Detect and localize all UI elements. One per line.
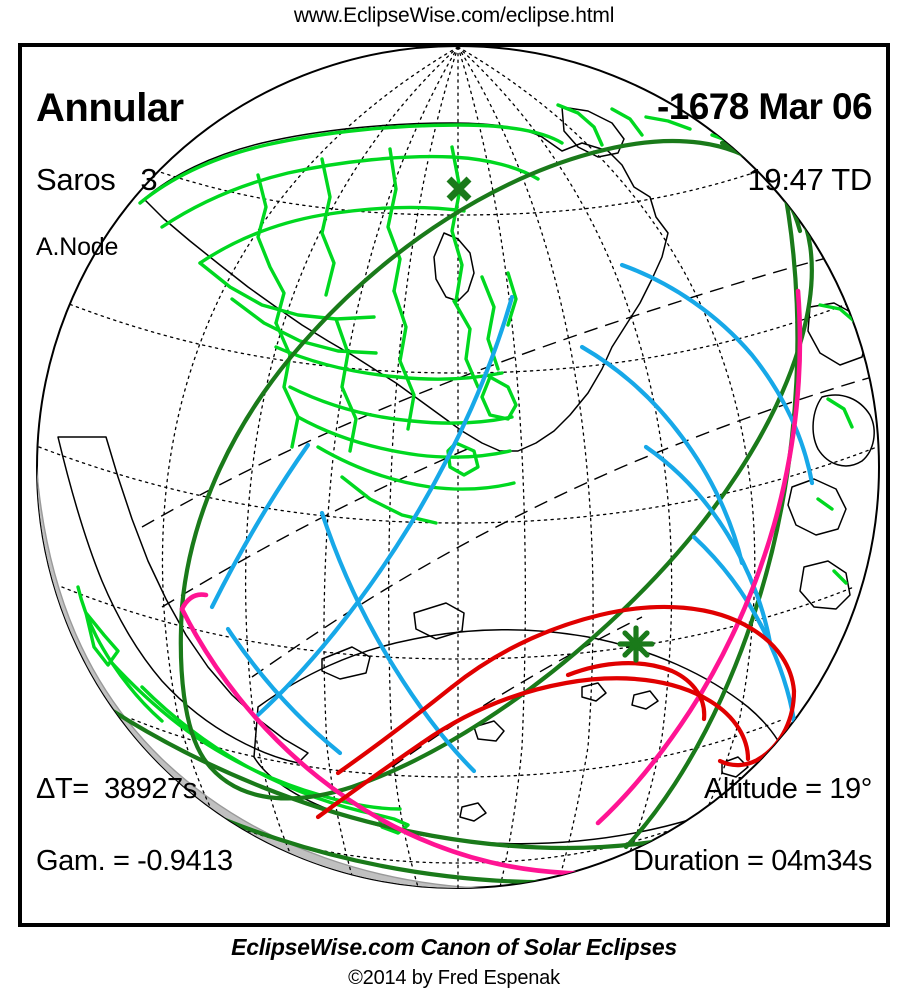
saros-series-label: Saros 3 [36, 161, 184, 200]
node-label: A.Node [36, 232, 184, 262]
duration-label: Duration = 04m34s [633, 841, 872, 881]
eclipse-map-page: www.EclipseWise.com/eclipse.html [0, 0, 908, 1004]
gamma-label: Gam. = -0.9413 [36, 841, 233, 881]
delta-t-label: ΔT= 38927s [36, 769, 233, 809]
eclipse-type-label: Annular [36, 87, 184, 129]
altitude-label: Altitude = 19° [633, 769, 872, 809]
eclipse-summary-top-left: Annular Saros 3 A.Node [36, 55, 184, 294]
eclipse-date-label: -1678 Mar 06 [657, 87, 872, 128]
copyright-credit: ©2014 by Fred Espenak [0, 967, 908, 990]
source-url: www.EclipseWise.com/eclipse.html [0, 4, 908, 28]
eclipse-time-label: 19:47 TD [657, 160, 872, 200]
eclipse-params-bottom-left: ΔT= 38927s Gam. = -0.9413 [36, 737, 233, 913]
eclipse-datetime-top-right: -1678 Mar 06 19:47 TD [657, 55, 872, 232]
eclipse-map-panel: Annular Saros 3 A.Node -1678 Mar 06 19:4… [18, 43, 890, 927]
eclipse-params-bottom-right: Altitude = 19° Duration = 04m34s [633, 737, 872, 913]
publication-title: EclipseWise.com Canon of Solar Eclipses [0, 934, 908, 961]
greatest-eclipse-point-marker [620, 628, 652, 660]
